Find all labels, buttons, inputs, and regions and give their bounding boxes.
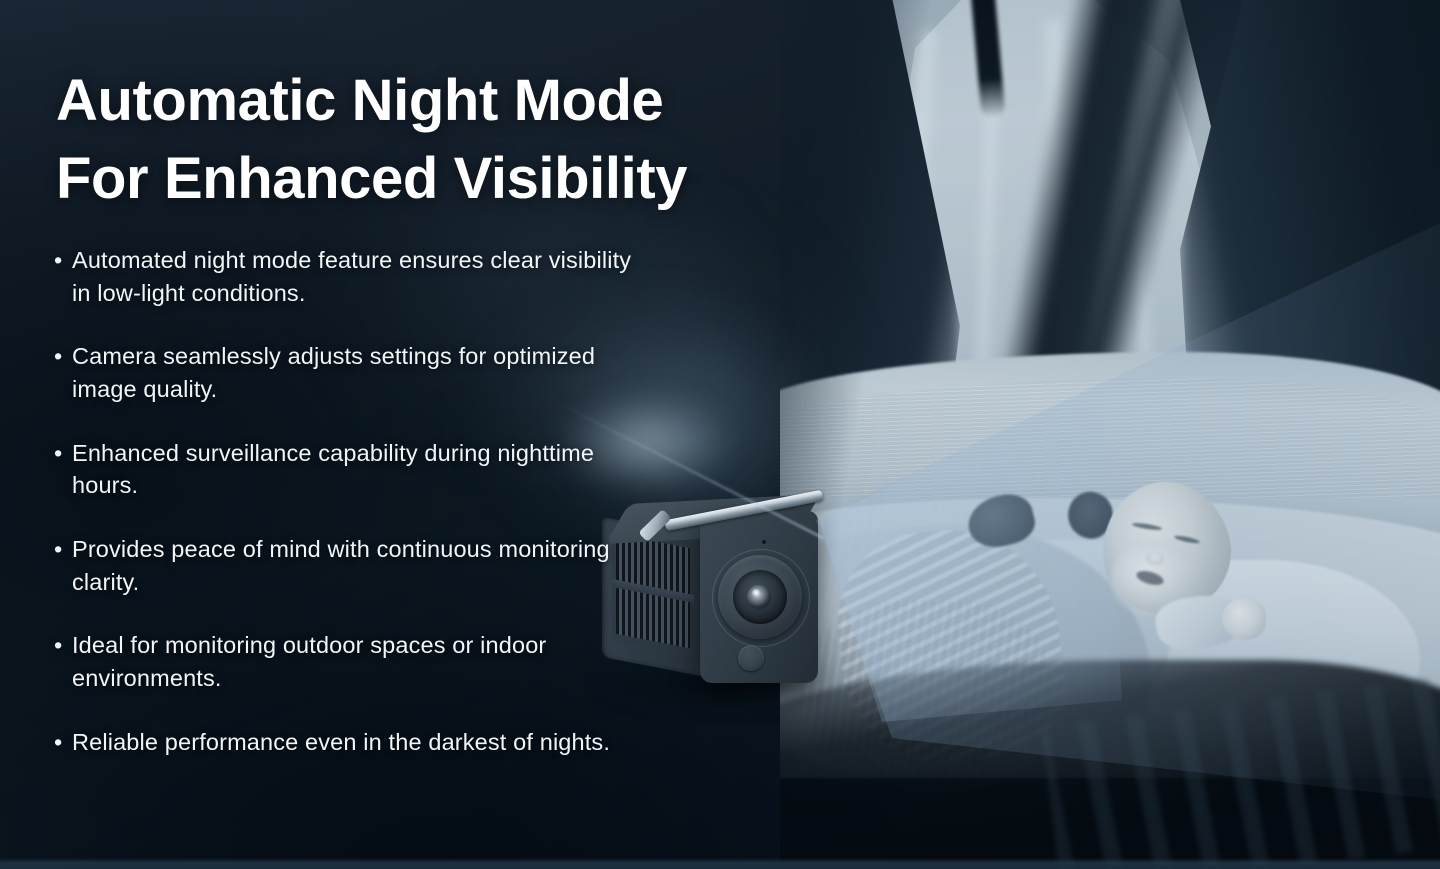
bullet-marker-icon: • [54,437,62,470]
text-content: Automatic Night Mode For Enhanced Visibi… [0,0,700,869]
camera-button[interactable] [738,645,764,671]
page-title: Automatic Night Mode For Enhanced Visibi… [56,62,856,219]
camera-lens-glint [752,589,760,596]
bullet-marker-icon: • [54,533,62,566]
list-item: • Reliable performance even in the darke… [50,726,650,759]
list-item-label: Ideal for monitoring outdoor spaces or i… [72,632,546,691]
list-item-label: Enhanced surveillance capability during … [72,440,594,499]
bullet-marker-icon: • [54,629,62,662]
title-line-1: Automatic Night Mode [56,68,663,133]
feature-bullet-list: • Automated night mode feature ensures c… [50,244,650,758]
bullet-marker-icon: • [54,244,62,277]
list-item: • Provides peace of mind with continuous… [50,533,650,598]
list-item: • Enhanced surveillance capability durin… [50,437,650,502]
list-item: • Ideal for monitoring outdoor spaces or… [50,629,650,694]
night-mode-feature-slide: Automatic Night Mode For Enhanced Visibi… [0,0,1440,869]
list-item-label: Provides peace of mind with continuous m… [72,536,610,595]
bullet-marker-icon: • [54,726,62,759]
title-line-2: For Enhanced Visibility [56,146,687,211]
list-item-label: Camera seamlessly adjusts settings for o… [72,343,595,402]
camera-microphone-icon [762,540,766,544]
list-item-label: Automated night mode feature ensures cle… [72,247,631,306]
list-item-label: Reliable performance even in the darkest… [72,729,610,755]
camera-lens-core [747,585,771,609]
bullet-marker-icon: • [54,340,62,373]
list-item: • Automated night mode feature ensures c… [50,244,650,309]
list-item: • Camera seamlessly adjusts settings for… [50,340,650,405]
